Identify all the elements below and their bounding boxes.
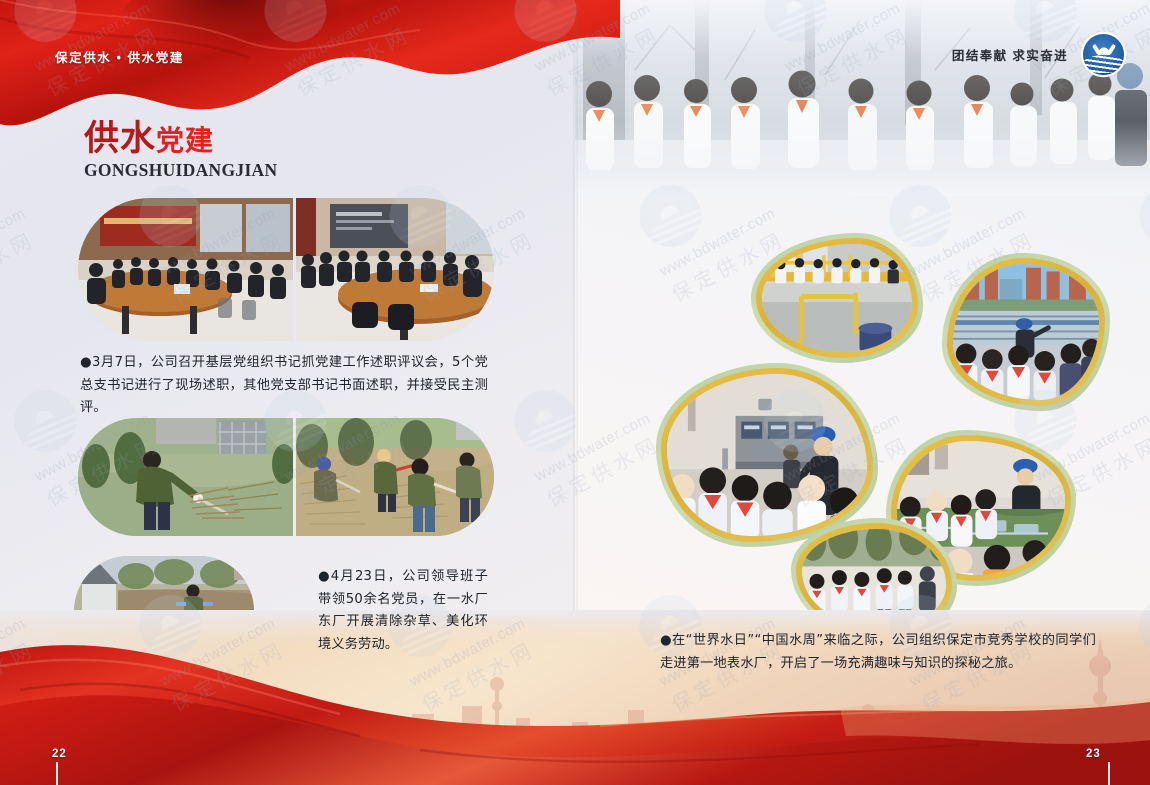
caption-water-day-tour: ●在“世界水日”“中国水周”来临之际，公司组织保定市竞秀学校的同学们走进第一地表… (660, 630, 1096, 675)
photo-plant-walkway-overlook (751, 233, 923, 363)
page-title: 供水党建 GONGSHUIDANGJIAN (84, 122, 277, 181)
right-running-head: 团结奉献 求实奋进 (952, 45, 1068, 64)
photo-meeting-room-roundtable (78, 198, 293, 341)
page-number-left: 22 (52, 748, 67, 760)
logo-wave-shape (1083, 55, 1124, 72)
title-chinese: 供水党建 (84, 122, 277, 157)
banner-photo-students-walking-line (575, 0, 1150, 196)
title-chinese-part2: 党建 (156, 124, 214, 157)
photo-sedimentation-basin-tour (942, 253, 1110, 411)
title-pinyin: GONGSHUIDANGJIAN (84, 160, 277, 181)
magazine-spread: 保定供水 • 供水党建 团结奉献 求实奋进 供水党建 GONGSHUIDANGJ… (0, 0, 1150, 785)
title-chinese-part1: 供水 (84, 119, 156, 159)
caption-meeting: ●3月7日，公司召开基层党组织书记抓党建工作述职评议会，5个党总支书记进行了现场… (80, 352, 488, 420)
caption-volunteer-labor: ●4月23日，公司领导班子带领50余名党员，在一水厂东厂开展清除杂草、美化环境义… (318, 566, 488, 657)
left-running-head: 保定供水 • 供水党建 (55, 47, 184, 66)
page-number-rule-left (56, 762, 58, 785)
photo-meeting-room-projector (296, 198, 494, 341)
logo-fan-shape (1093, 42, 1114, 55)
baoding-water-logo (1083, 34, 1124, 75)
photo-volunteer-clearing-weeds-group (296, 418, 494, 536)
photo-volunteer-clearing-weeds-single (78, 418, 293, 536)
page-number-rule-right (1108, 762, 1110, 785)
page-number-right: 23 (1086, 748, 1101, 760)
